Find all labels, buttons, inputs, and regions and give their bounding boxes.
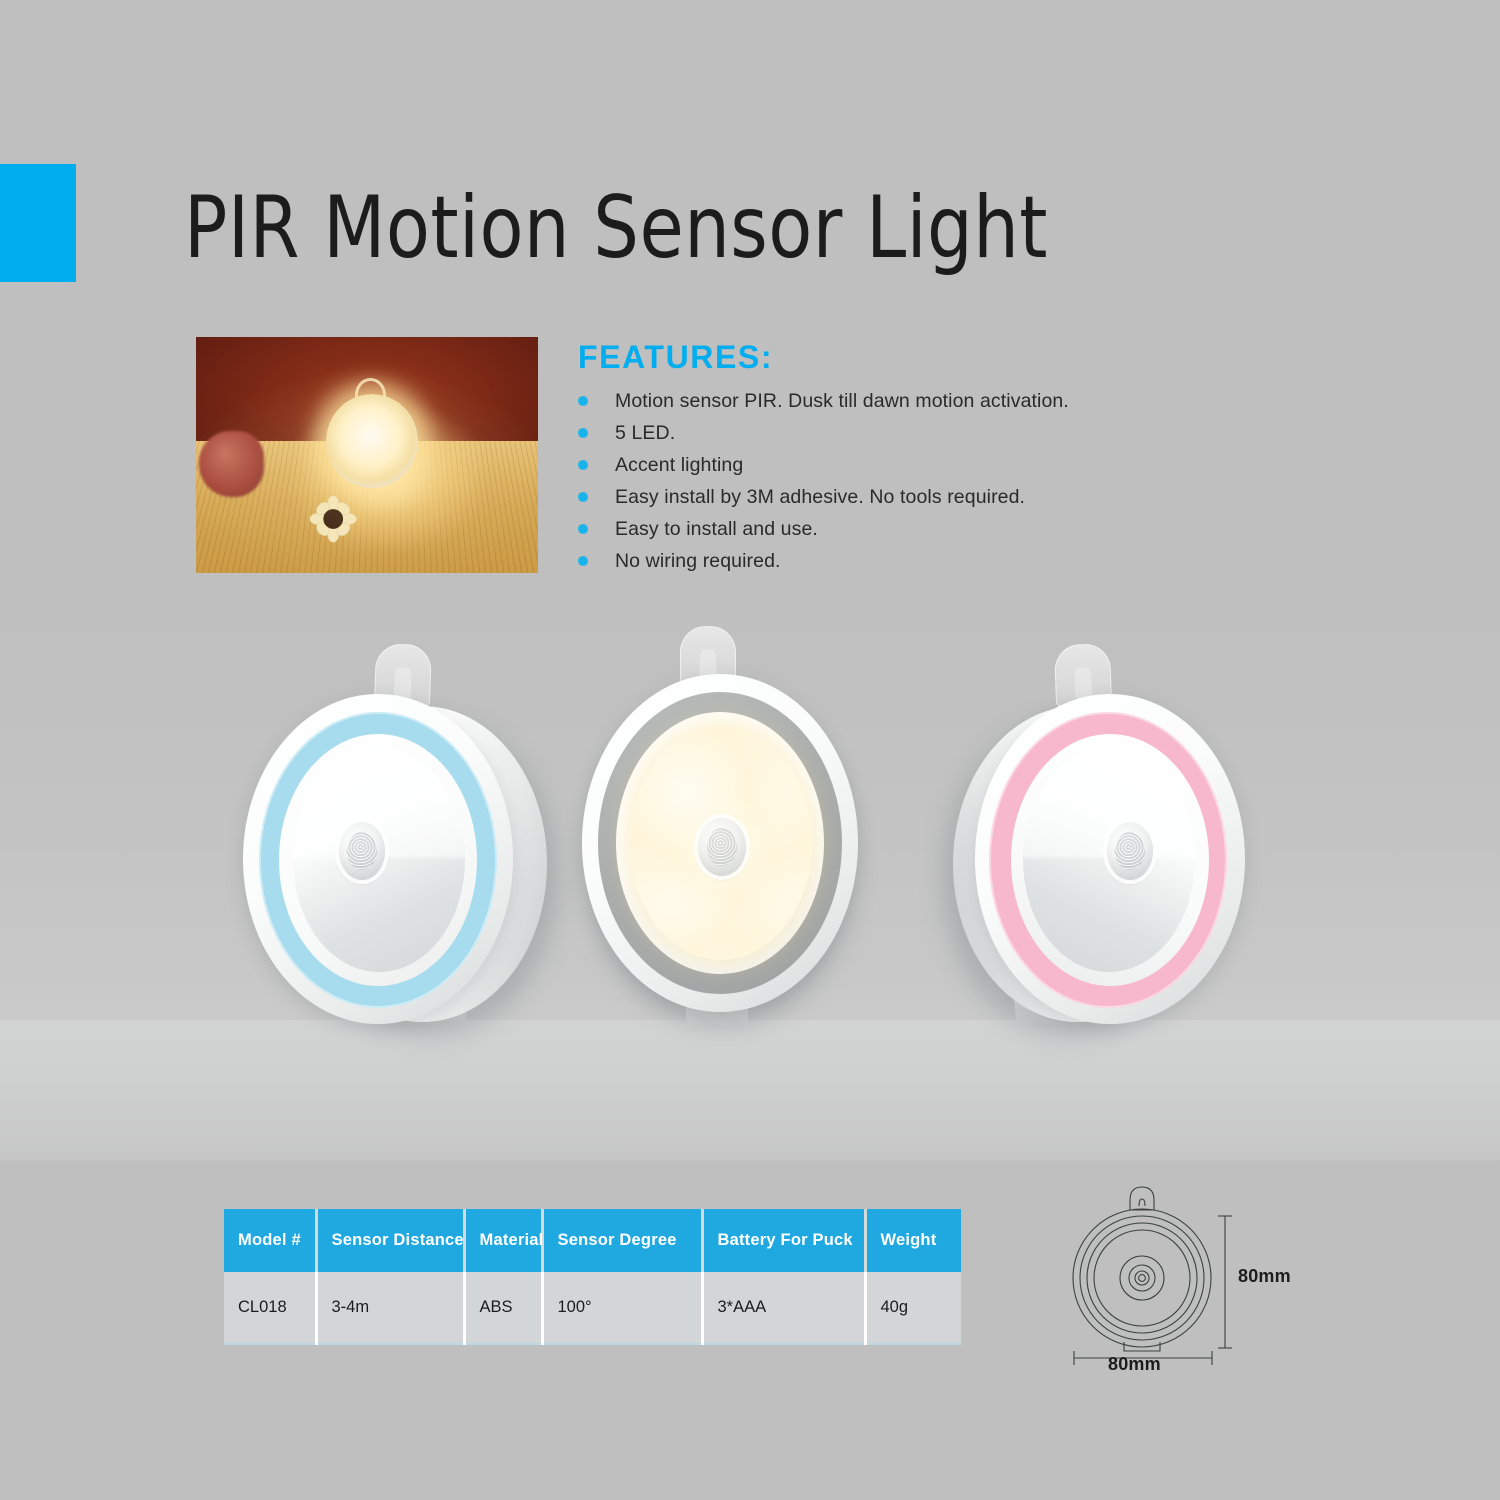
cell-weight: 40g bbox=[865, 1272, 961, 1344]
specification-table: Model # Sensor Distance Material Sensor … bbox=[224, 1209, 961, 1345]
dimension-width-label: 80mm bbox=[1108, 1354, 1161, 1375]
cell-model: CL018 bbox=[224, 1272, 316, 1344]
cell-sensor-distance: 3-4m bbox=[316, 1272, 464, 1344]
column-header-material: Material bbox=[464, 1209, 542, 1272]
page-title: PIR Motion Sensor Light bbox=[184, 178, 1048, 278]
product-variant-lit bbox=[568, 622, 868, 1022]
column-header-model: Model # bbox=[224, 1209, 316, 1272]
features-heading: FEATURES: bbox=[578, 339, 773, 376]
bullet-icon bbox=[578, 460, 588, 470]
product-datasheet-page: PIR Motion Sensor Light bbox=[0, 0, 1500, 1500]
product-variant-pink bbox=[955, 636, 1255, 1036]
product-variants-row bbox=[0, 612, 1500, 1062]
feature-label: Motion sensor PIR. Dusk till dawn motion… bbox=[615, 388, 1069, 414]
bullet-icon bbox=[578, 524, 588, 534]
cell-battery: 3*AAA bbox=[702, 1272, 865, 1344]
feature-item: No wiring required. bbox=[578, 548, 1198, 580]
product-variant-blue bbox=[235, 636, 535, 1036]
column-header-sensor-degree: Sensor Degree bbox=[542, 1209, 702, 1272]
photo-warm-haze bbox=[196, 337, 538, 573]
dimension-height-label: 80mm bbox=[1238, 1266, 1291, 1287]
feature-item: Easy to install and use. bbox=[578, 516, 1198, 548]
cell-material: ABS bbox=[464, 1272, 542, 1344]
table-header-row: Model # Sensor Distance Material Sensor … bbox=[224, 1209, 961, 1272]
feature-label: Accent lighting bbox=[615, 452, 743, 478]
feature-label: No wiring required. bbox=[615, 548, 781, 574]
table-row: CL018 3-4m ABS 100° 3*AAA 40g bbox=[224, 1272, 961, 1344]
pir-sensor-dome-icon bbox=[339, 822, 385, 880]
feature-label: Easy to install and use. bbox=[615, 516, 818, 542]
features-list: Motion sensor PIR. Dusk till dawn motion… bbox=[578, 388, 1198, 580]
column-header-sensor-distance: Sensor Distance bbox=[316, 1209, 464, 1272]
feature-label: Easy install by 3M adhesive. No tools re… bbox=[615, 484, 1025, 510]
feature-item: Accent lighting bbox=[578, 452, 1198, 484]
feature-item: Easy install by 3M adhesive. No tools re… bbox=[578, 484, 1198, 516]
feature-label: 5 LED. bbox=[615, 420, 675, 446]
bullet-icon bbox=[578, 492, 588, 502]
dimension-diagram: 80mm 80mm bbox=[1062, 1178, 1324, 1388]
accent-square bbox=[0, 164, 76, 282]
product-lifestyle-photo bbox=[196, 337, 538, 573]
feature-item: Motion sensor PIR. Dusk till dawn motion… bbox=[578, 388, 1198, 420]
pir-sensor-dome-icon bbox=[1107, 822, 1153, 880]
cell-sensor-degree: 100° bbox=[542, 1272, 702, 1344]
feature-item: 5 LED. bbox=[578, 420, 1198, 452]
pir-sensor-dome-icon bbox=[698, 818, 746, 876]
bullet-icon bbox=[578, 428, 588, 438]
bullet-icon bbox=[578, 396, 588, 406]
column-header-battery: Battery For Puck bbox=[702, 1209, 865, 1272]
bullet-icon bbox=[578, 556, 588, 566]
column-header-weight: Weight bbox=[865, 1209, 961, 1272]
